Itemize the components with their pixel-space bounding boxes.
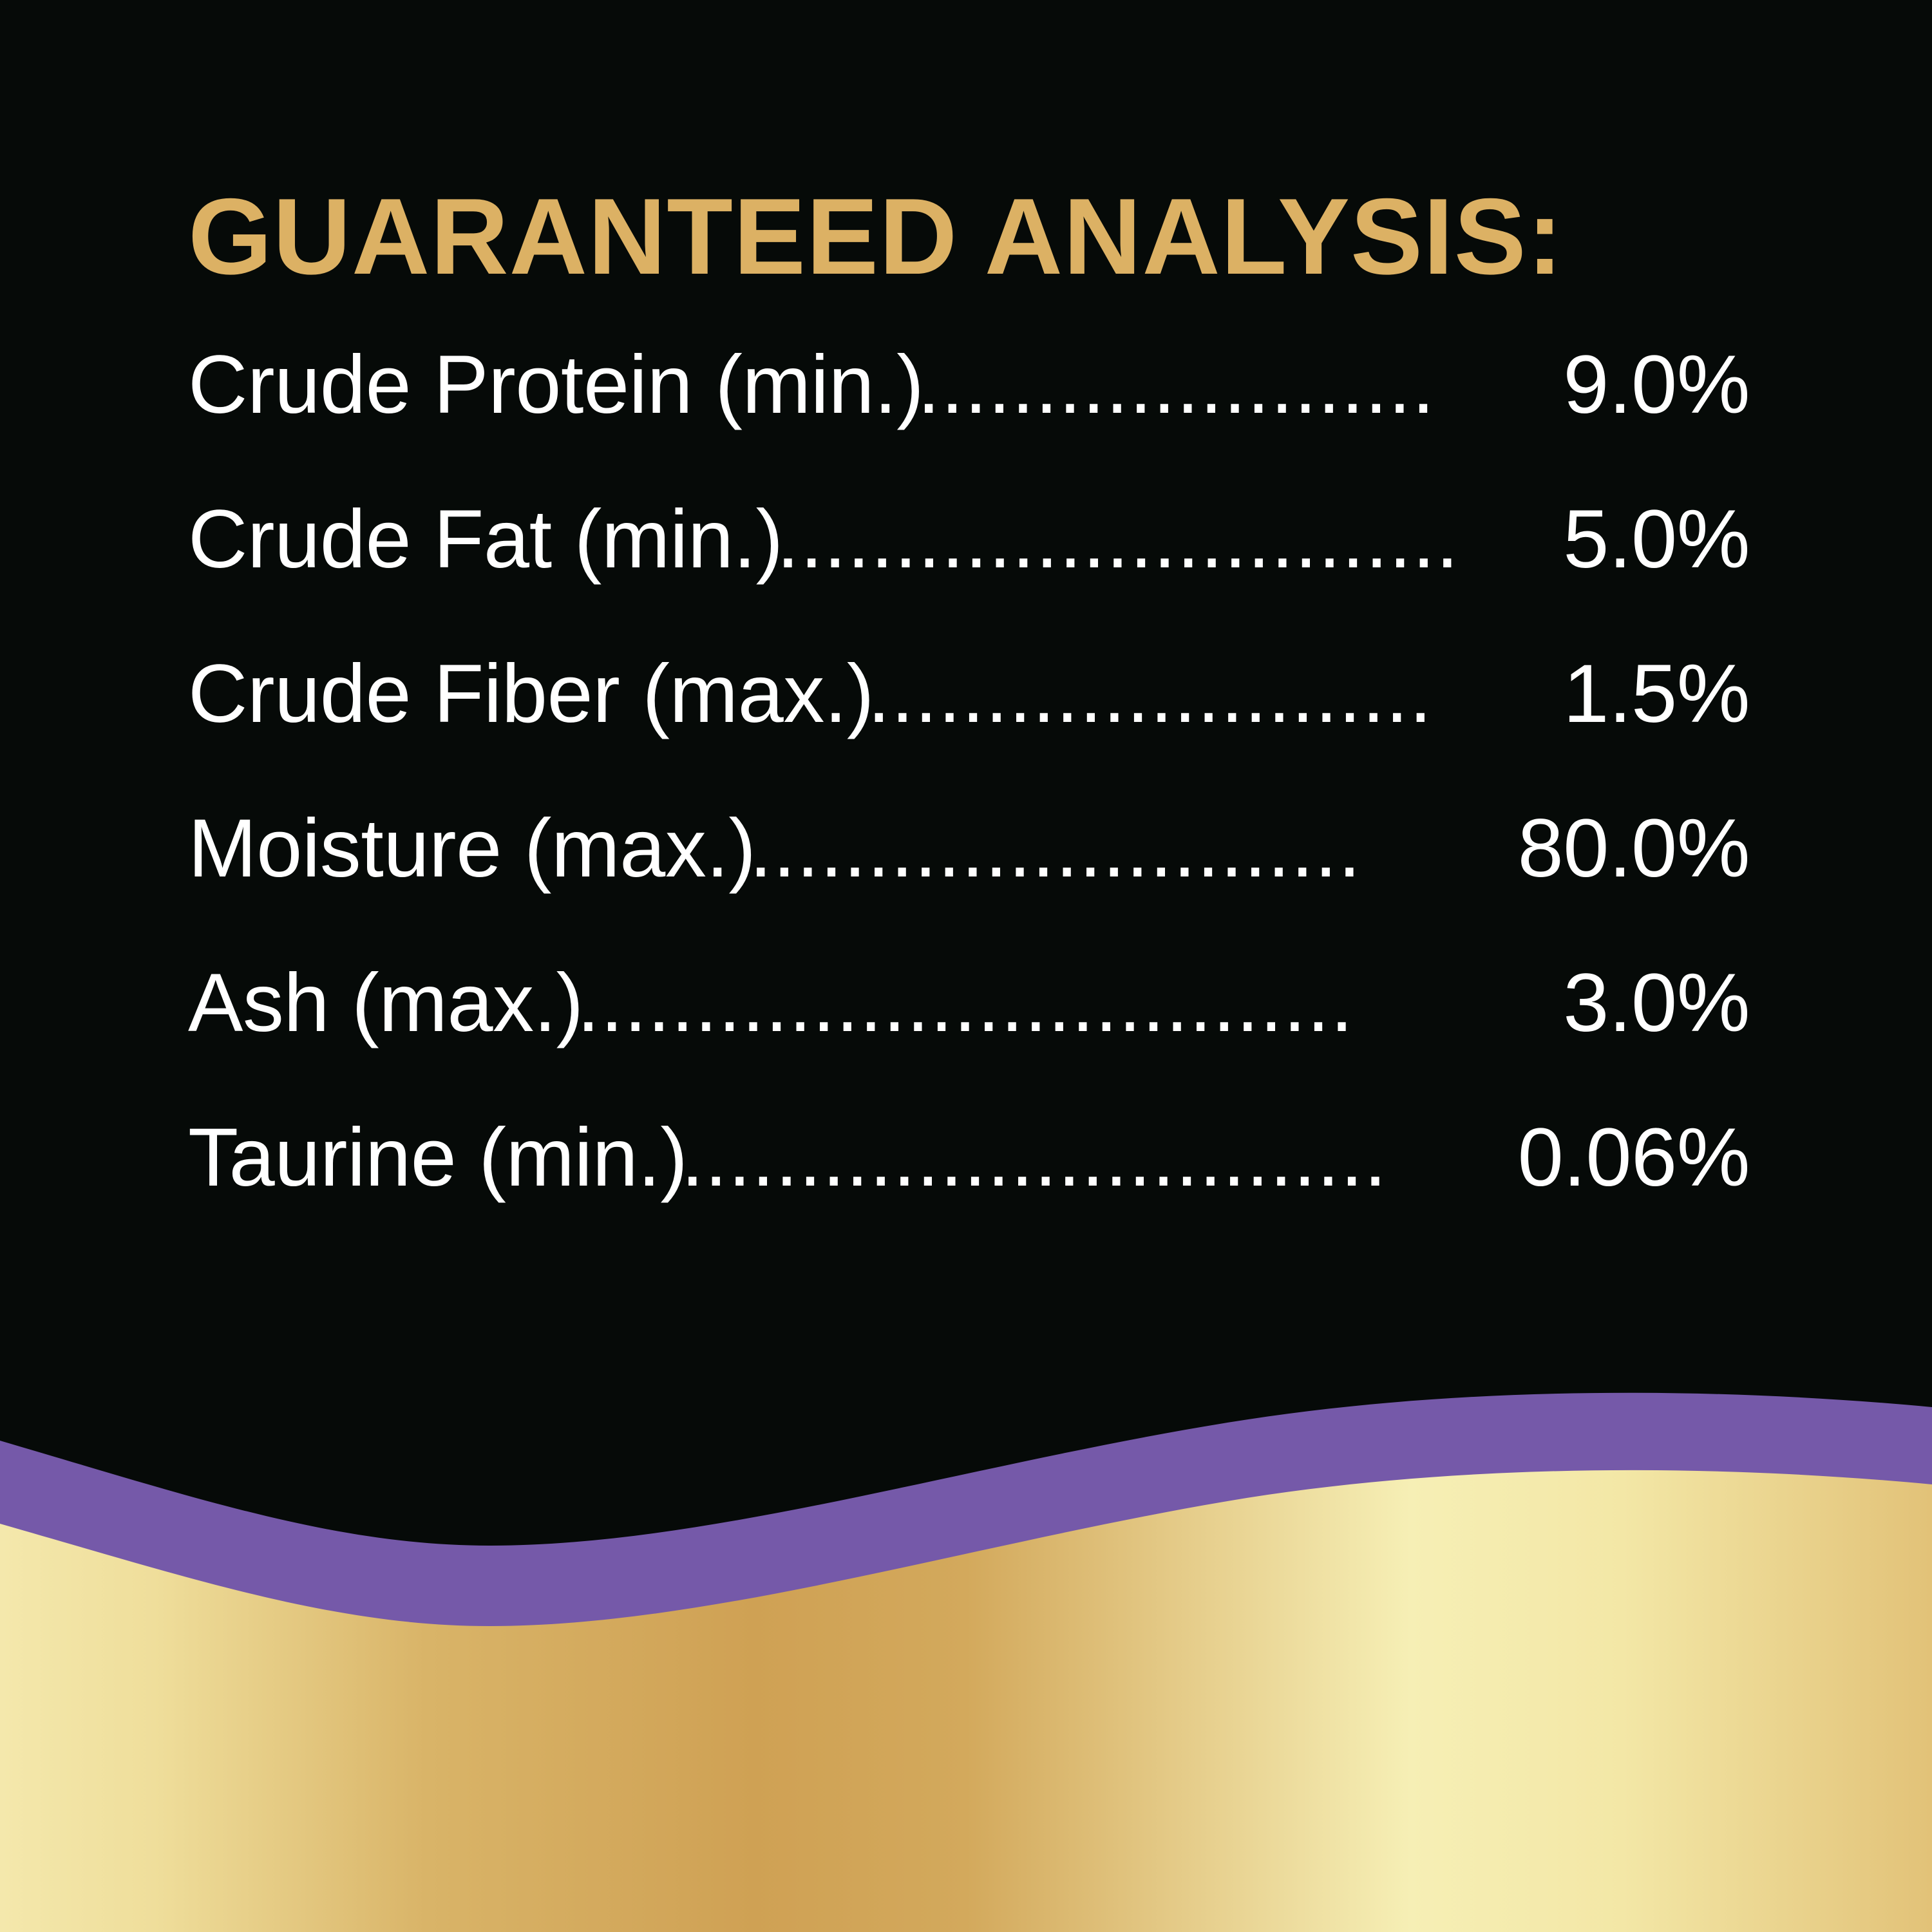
list-item: Taurine (min.) .........................…	[188, 1116, 1750, 1271]
leader-dots: ......................	[917, 343, 1569, 427]
nutrient-label: Crude Fat (min.)	[188, 498, 783, 582]
nutrient-value: 1.5%	[1563, 652, 1750, 736]
leader-dots: .............................	[777, 498, 1570, 582]
list-item: Ash (max.) .............................…	[188, 961, 1750, 1116]
nutrient-label: Crude Fiber (max.)	[188, 652, 874, 736]
bottom-wave-decoration	[0, 1352, 1932, 1932]
list-item: Crude Fat (min.) .......................…	[188, 498, 1750, 652]
nutrient-value: 9.0%	[1563, 343, 1750, 427]
nutrient-label: Moisture (max.)	[188, 807, 756, 891]
nutrient-value: 5.0%	[1563, 498, 1750, 582]
nutrient-label: Ash (max.)	[188, 961, 583, 1045]
list-item: Crude Protein (min.) ...................…	[188, 343, 1750, 498]
guaranteed-analysis-panel: GUARANTEED ANALYSIS: Crude Protein (min.…	[0, 0, 1932, 1932]
nutrient-value: 0.06%	[1518, 1116, 1750, 1200]
guaranteed-analysis-list: Crude Protein (min.) ...................…	[188, 343, 1750, 1271]
leader-dots: ..............................	[681, 1116, 1524, 1200]
leader-dots: ..........................	[750, 807, 1524, 891]
nutrient-label: Taurine (min.)	[188, 1116, 687, 1200]
nutrient-value: 80.0%	[1518, 807, 1750, 891]
leader-dots: ........................	[867, 652, 1569, 736]
list-item: Crude Fiber (max.) .....................…	[188, 652, 1750, 807]
nutrient-label: Crude Protein (min.)	[188, 343, 923, 427]
list-item: Moisture (max.) ........................…	[188, 807, 1750, 961]
nutrient-value: 3.0%	[1563, 961, 1750, 1045]
page-title: GUARANTEED ANALYSIS:	[188, 182, 1564, 290]
leader-dots: .................................	[577, 961, 1570, 1045]
